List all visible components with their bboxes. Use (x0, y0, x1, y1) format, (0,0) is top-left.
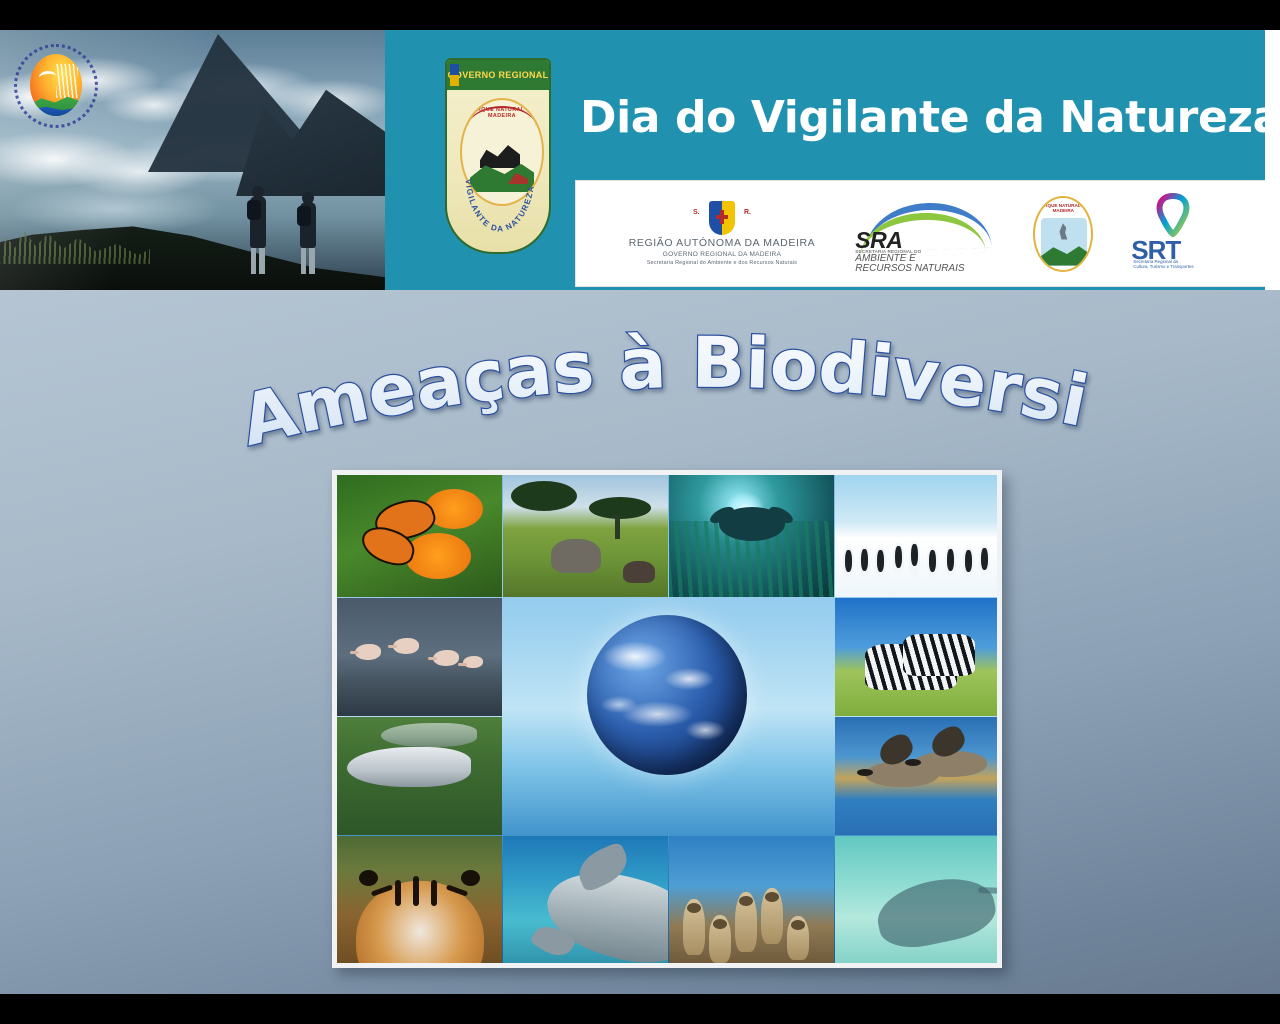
sra-logo: SRA SECRETARIA REGIONAL DO AMBIENTE E RE… (849, 199, 999, 269)
collage-tile-butterfly (337, 475, 502, 597)
slide-header: GOVERNO REGIONAL PARQUE NATURAL DA MADEI… (0, 30, 1280, 290)
parque-natural-da-madeira-round-logo (14, 44, 98, 128)
ram-line3: Secretaria Regional do Ambiente e dos Re… (647, 260, 797, 266)
sra-sub-line1: AMBIENTE E (855, 254, 964, 264)
collage-tile-dolphin (503, 836, 668, 963)
slide-title-wordart: Ameaças à Biodiversidade (0, 330, 1280, 460)
collage-tile-meerkats (669, 836, 834, 963)
letterbox-top (0, 0, 1280, 30)
collage-tile-geese (835, 717, 997, 835)
ram-s-letter: S. (693, 209, 700, 216)
slide-stage: GOVERNO REGIONAL PARQUE NATURAL DA MADEI… (0, 30, 1280, 994)
parque-natural-da-madeira-logo: PARQUE NATURAL DA MADEIRA (1033, 196, 1093, 272)
collage-tile-savanna-elephants (503, 475, 668, 597)
hikers-above-clouds-photo (0, 30, 385, 290)
hiker-figure (250, 186, 266, 274)
crest-ring-text: VIGILANTE DA NATUREZA (447, 96, 551, 254)
collage-tile-stingray (835, 836, 997, 963)
vigilante-da-natureza-crest: GOVERNO REGIONAL PARQUE NATURAL DA MADEI… (445, 58, 551, 254)
svg-text:Ameaças à Biodiversidade: Ameaças à Biodiversidade (0, 330, 1095, 460)
crest-top-label: GOVERNO REGIONAL (448, 70, 549, 80)
institutional-logo-bar: S. R. REGIÃO AUTÓNOMA DA MADEIRA GOVERNO… (575, 180, 1267, 287)
collage-tile-sea-turtle (669, 475, 834, 597)
ram-line2: GOVERNO REGIONAL DA MADEIRA (663, 251, 781, 258)
collage-tile-flamingos (337, 598, 502, 716)
srt-triangle-icon (1153, 193, 1193, 237)
header-right-white-strip (1265, 30, 1280, 290)
srt-sub-line2: Cultura, Turismo e Transportes (1133, 264, 1193, 269)
collage-tile-penguins (835, 475, 997, 597)
presentation-slide: GOVERNO REGIONAL PARQUE NATURAL DA MADEI… (0, 0, 1280, 1024)
pnm-ring-label: PARQUE NATURAL DA MADEIRA (1035, 203, 1091, 213)
collage-tile-tiger (337, 836, 502, 963)
madeira-flag-icon (450, 64, 459, 86)
ram-line1: REGIÃO AUTÓNOMA DA MADEIRA (629, 237, 816, 249)
collage-tile-zebras (835, 598, 997, 716)
letterbox-bottom (0, 994, 1280, 1024)
header-teal-band: GOVERNO REGIONAL PARQUE NATURAL DA MADEI… (385, 30, 1265, 290)
planet-earth-globe (587, 615, 747, 775)
svg-text:VIGILANTE DA NATUREZA: VIGILANTE DA NATUREZA (463, 179, 535, 234)
collage-tile-salmon-fish (337, 717, 502, 835)
srt-logo: SRT Secretaria Regional da Cultura, Turi… (1127, 195, 1213, 273)
event-title: Dia do Vigilante da Natureza (580, 92, 1280, 143)
hiker-figure (300, 192, 316, 274)
madeira-shield-icon (709, 201, 735, 235)
sra-sub-line2: RECURSOS NATURAIS (855, 264, 964, 274)
ram-r-letter: R. (744, 209, 751, 216)
regiao-autonoma-da-madeira-logo: S. R. REGIÃO AUTÓNOMA DA MADEIRA GOVERNO… (629, 201, 816, 266)
biodiversity-photo-collage (332, 470, 1002, 968)
